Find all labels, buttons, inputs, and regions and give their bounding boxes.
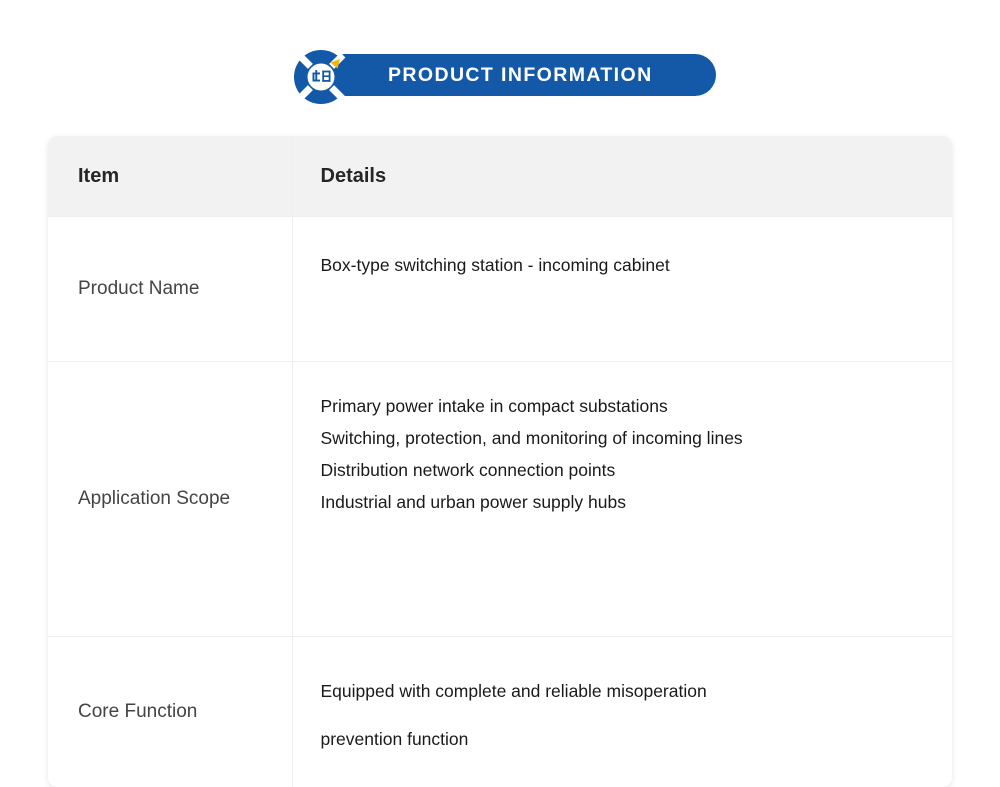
detail-line: prevention function bbox=[321, 715, 929, 763]
column-header-details: Details bbox=[292, 136, 952, 217]
detail-line: Switching, protection, and monitoring of… bbox=[321, 422, 929, 454]
page-title: PRODUCT INFORMATION bbox=[388, 54, 653, 96]
table-row: Product Name Box-type switching station … bbox=[48, 217, 952, 362]
table-header-row: Item Details bbox=[48, 136, 952, 217]
detail-line: Equipped with complete and reliable miso… bbox=[321, 667, 929, 715]
row-value-product-name: Box-type switching station - incoming ca… bbox=[292, 217, 952, 362]
company-logo-icon bbox=[292, 48, 350, 106]
table-row: Core Function Equipped with complete and… bbox=[48, 637, 952, 787]
row-label-application-scope: Application Scope bbox=[48, 362, 292, 637]
page-banner: PRODUCT INFORMATION bbox=[0, 48, 1000, 106]
row-label-product-name: Product Name bbox=[48, 217, 292, 362]
row-value-core-function: Equipped with complete and reliable miso… bbox=[292, 637, 952, 787]
detail-line: Box-type switching station - incoming ca… bbox=[321, 249, 929, 281]
row-value-application-scope: Primary power intake in compact substati… bbox=[292, 362, 952, 637]
column-header-details-label: Details bbox=[293, 165, 953, 188]
product-information-table: Item Details Product Name Box-type switc… bbox=[48, 136, 952, 787]
detail-line: Primary power intake in compact substati… bbox=[321, 390, 929, 422]
column-header-item: Item bbox=[48, 136, 292, 217]
detail-line: Distribution network connection points bbox=[321, 454, 929, 486]
detail-line: Industrial and urban power supply hubs bbox=[321, 486, 929, 518]
table-row: Application Scope Primary power intake i… bbox=[48, 362, 952, 637]
column-header-item-label: Item bbox=[48, 165, 292, 188]
row-label-core-function: Core Function bbox=[48, 637, 292, 787]
